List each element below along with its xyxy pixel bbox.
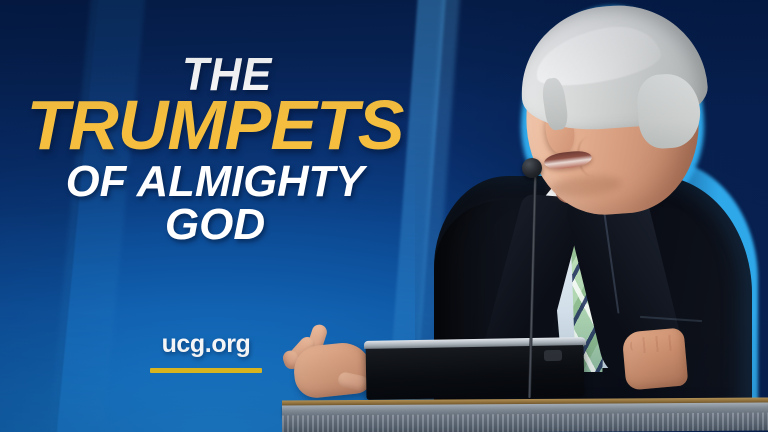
title-block: THE TRUMPETS OF ALMIGHTY GOD: [0, 52, 430, 246]
microphone-head: [522, 158, 542, 178]
podium: [0, 390, 768, 432]
brand-block[interactable]: ucg.org: [0, 330, 412, 373]
tablet-camera-bump: [544, 350, 562, 361]
video-thumbnail: THE TRUMPETS OF ALMIGHTY GOD ucg.org: [0, 0, 768, 432]
title-line-of: OF ALMIGHTY: [2, 161, 428, 203]
brand-url[interactable]: ucg.org: [0, 330, 412, 359]
podium-front-panel: [282, 413, 768, 432]
title-line-trumpets: TRUMPETS: [0, 92, 430, 159]
brand-underline-rule: [150, 368, 262, 373]
title-line-god: GOD: [0, 204, 430, 246]
